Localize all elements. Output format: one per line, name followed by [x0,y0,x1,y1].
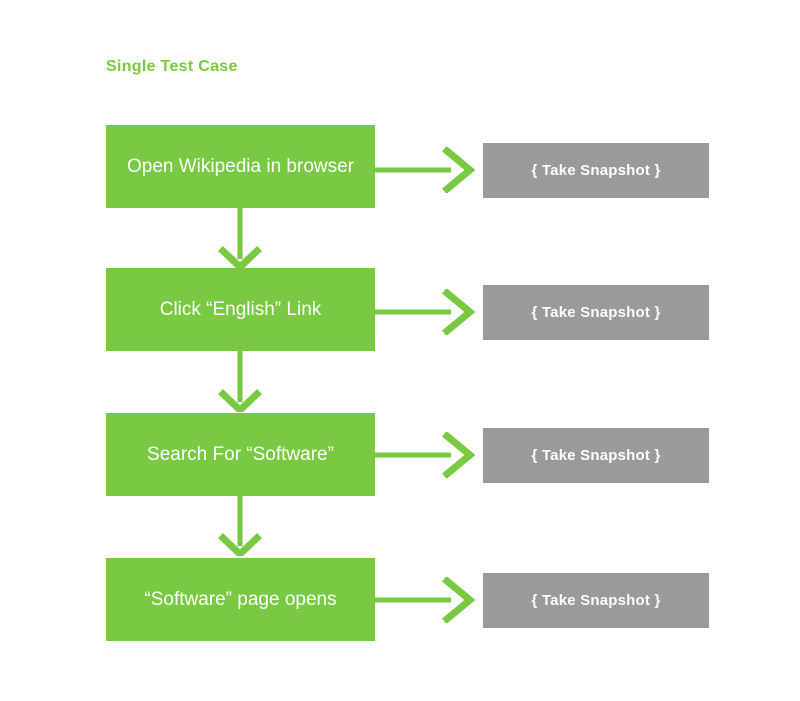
step-box-2[interactable]: Click “English” Link [106,268,375,351]
step-label-4: “Software” page opens [144,587,336,612]
arrow-down-icon-3 [215,494,265,556]
step-box-4[interactable]: “Software” page opens [106,558,375,641]
snapshot-label-3: { Take Snapshot } [532,447,661,464]
snapshot-label-2: { Take Snapshot } [532,304,661,321]
step-label-1: Open Wikipedia in browser [127,154,354,179]
arrow-right-icon-4 [375,577,475,623]
arrow-right-icon-1 [375,147,475,193]
flowchart-canvas: Single Test Case Open Wikipedia in brows… [0,0,800,701]
snapshot-label-1: { Take Snapshot } [532,162,661,179]
arrow-right-icon-2 [375,289,475,335]
step-box-1[interactable]: Open Wikipedia in browser [106,125,375,208]
arrow-right-icon-3 [375,432,475,478]
arrow-down-icon-2 [215,350,265,412]
step-label-2: Click “English” Link [160,297,322,322]
snapshot-label-4: { Take Snapshot } [532,592,661,609]
arrow-down-icon-1 [215,207,265,269]
page-title: Single Test Case [106,58,238,76]
snapshot-box-3[interactable]: { Take Snapshot } [483,428,709,483]
step-label-3: Search For “Software” [147,442,334,467]
snapshot-box-2[interactable]: { Take Snapshot } [483,285,709,340]
snapshot-box-1[interactable]: { Take Snapshot } [483,143,709,198]
step-box-3[interactable]: Search For “Software” [106,413,375,496]
snapshot-box-4[interactable]: { Take Snapshot } [483,573,709,628]
